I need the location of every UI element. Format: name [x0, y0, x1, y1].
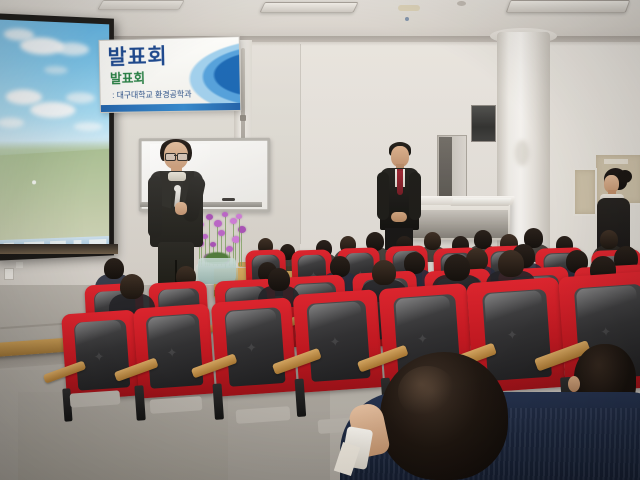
audience-head	[498, 250, 524, 277]
seat-emblem: ✦	[93, 350, 105, 364]
auditorium-seat: ✦	[61, 310, 141, 401]
seat-highlight	[226, 309, 278, 344]
seat-highlight	[395, 296, 452, 335]
hair-sheen	[398, 366, 456, 418]
seat-emblem: ✦	[329, 335, 341, 349]
auditorium-seat: ✦	[293, 289, 384, 393]
ear	[568, 376, 580, 392]
photo-scene: 발표회 발표회 : 대구대학교 환경공학과	[0, 0, 640, 480]
seat-floor-base	[236, 406, 291, 424]
audience-head	[600, 230, 618, 249]
seat-floor-base	[70, 390, 121, 407]
seat-highlight	[484, 290, 544, 331]
seat-highlight	[309, 301, 363, 338]
audience-head	[444, 254, 470, 281]
audience-head	[268, 268, 290, 291]
seat-emblem: ✦	[417, 332, 429, 346]
audience-head	[104, 258, 124, 279]
audience-head	[120, 274, 144, 299]
seat-emblem: ✦	[166, 345, 178, 359]
seat-emblem: ✦	[600, 325, 612, 339]
seat-highlight	[576, 285, 638, 328]
seat-floor-base	[150, 396, 203, 414]
seat-emblem: ✦	[506, 328, 518, 342]
auditorium-seat: ✦	[211, 297, 297, 396]
seat-highlight	[147, 314, 196, 348]
auditorium-seat: ✦	[133, 303, 215, 398]
seat-emblem: ✦	[246, 341, 258, 355]
audience-head	[372, 260, 396, 285]
seat-highlight	[75, 320, 123, 352]
